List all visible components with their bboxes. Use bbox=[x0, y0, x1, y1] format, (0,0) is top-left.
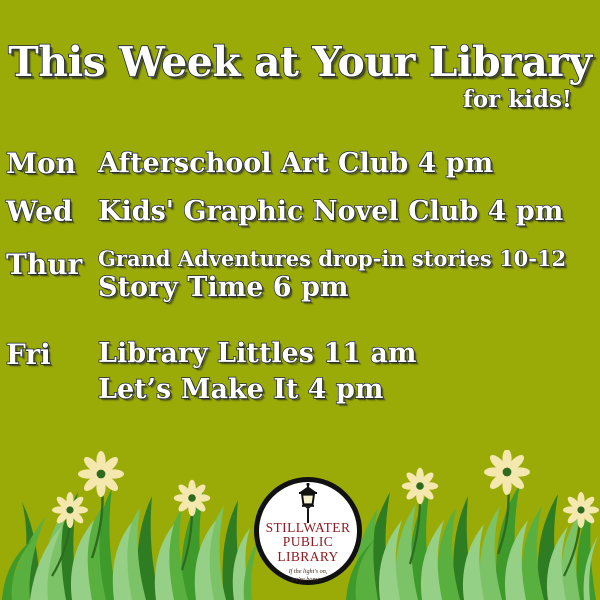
event-item: Story Time 6 pm bbox=[98, 274, 600, 302]
logo-wordmark: STILLWATER PUBLIC LIBRARY bbox=[254, 521, 362, 564]
schedule-row-fri: Fri Library Littles 11 am Let’s Make It … bbox=[0, 334, 600, 414]
logo-line-2: PUBLIC bbox=[254, 535, 362, 549]
schedule-row-thur: Thur Grand Adventures drop-in stories 10… bbox=[0, 248, 600, 334]
poster-header: This Week at Your Library for kids! bbox=[0, 0, 600, 130]
day-label-fri: Fri bbox=[0, 334, 98, 369]
day-label-mon: Mon bbox=[0, 150, 98, 178]
events-thur: Grand Adventures drop-in stories 10-12 S… bbox=[98, 248, 600, 302]
schedule-list: Mon Afterschool Art Club 4 pm Wed Kids' … bbox=[0, 150, 600, 414]
page-subtitle: for kids! bbox=[463, 88, 572, 111]
library-logo[interactable]: STILLWATER PUBLIC LIBRARY If the light's… bbox=[254, 477, 362, 585]
events-mon: Afterschool Art Club 4 pm bbox=[98, 150, 600, 178]
logo-line-3: LIBRARY bbox=[254, 550, 362, 564]
logo-line-1: STILLWATER bbox=[254, 521, 362, 535]
event-item: Afterschool Art Club 4 pm bbox=[98, 150, 600, 178]
grass-clump-left bbox=[2, 486, 262, 600]
library-poster: This Week at Your Library for kids! Mon … bbox=[0, 0, 600, 600]
event-item: Kids' Graphic Novel Club 4 pm bbox=[98, 198, 600, 226]
event-item: Library Littles 11 am bbox=[98, 340, 600, 368]
grass-clump-right bbox=[346, 484, 598, 600]
logo-tagline-line-2: we're home... bbox=[254, 576, 362, 584]
events-wed: Kids' Graphic Novel Club 4 pm bbox=[98, 198, 600, 226]
events-fri: Library Littles 11 am Let’s Make It 4 pm bbox=[98, 334, 600, 403]
event-item: Let’s Make It 4 pm bbox=[98, 376, 600, 404]
logo-tagline: If the light's on, we're home... bbox=[254, 568, 362, 584]
page-title: This Week at Your Library bbox=[0, 42, 600, 83]
schedule-row-mon: Mon Afterschool Art Club 4 pm bbox=[0, 150, 600, 198]
event-item: Grand Adventures drop-in stories 10-12 bbox=[98, 248, 600, 269]
day-label-thur: Thur bbox=[0, 248, 98, 279]
schedule-row-wed: Wed Kids' Graphic Novel Club 4 pm bbox=[0, 198, 600, 248]
logo-tagline-line-1: If the light's on, bbox=[254, 568, 362, 576]
lamppost-icon bbox=[291, 483, 325, 523]
day-label-wed: Wed bbox=[0, 198, 98, 226]
